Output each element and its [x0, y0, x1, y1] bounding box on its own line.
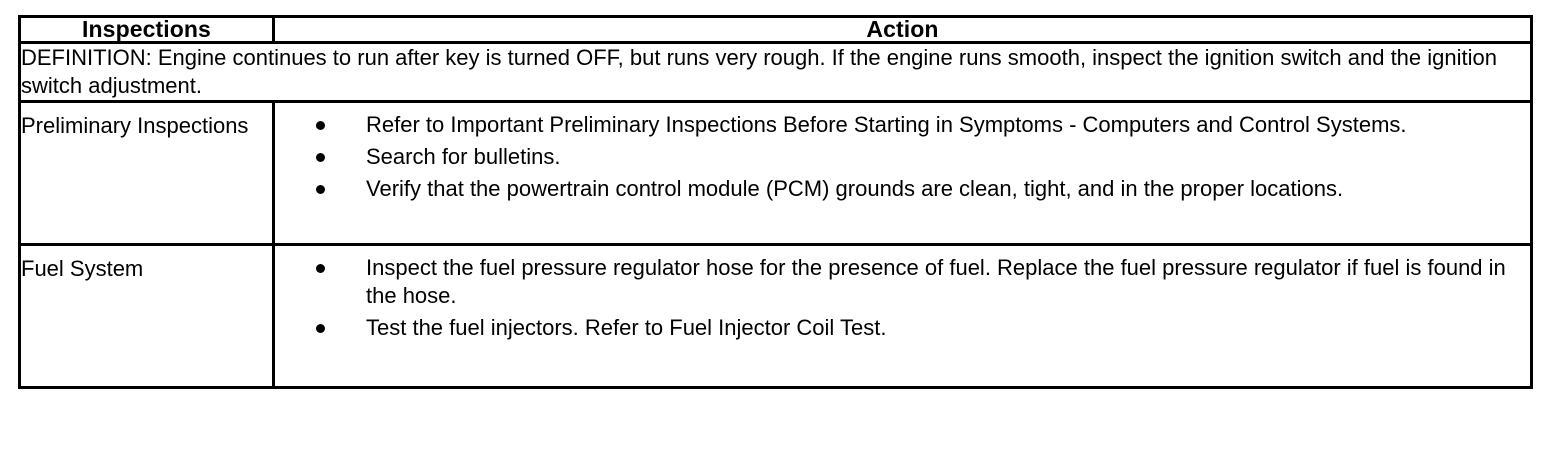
bullet-icon [316, 264, 325, 273]
list-item-text: Inspect the fuel pressure regulator hose… [366, 254, 1530, 310]
list-item: Inspect the fuel pressure regulator hose… [275, 254, 1530, 310]
table-row: Preliminary Inspections Refer to Importa… [20, 102, 1532, 245]
list-item-text: Test the fuel injectors. Refer to Fuel I… [366, 314, 1530, 342]
list-item-text: Refer to Important Preliminary Inspectio… [366, 111, 1530, 139]
column-header-action: Action [274, 17, 1532, 43]
action-cell-fuel-system: Inspect the fuel pressure regulator hose… [274, 245, 1532, 388]
action-bullet-list: Inspect the fuel pressure regulator hose… [275, 254, 1530, 342]
category-label: Fuel System [21, 255, 272, 283]
bullet-icon [316, 153, 325, 162]
table-row: Fuel System Inspect the fuel pressure re… [20, 245, 1532, 388]
diagnostic-inspection-table: Inspections Action DEFINITION: Engine co… [18, 15, 1533, 389]
list-item: Verify that the powertrain control modul… [275, 175, 1530, 203]
list-item: Test the fuel injectors. Refer to Fuel I… [275, 314, 1530, 342]
page-root: Inspections Action DEFINITION: Engine co… [0, 0, 1568, 468]
definition-row: DEFINITION: Engine continues to run afte… [20, 43, 1532, 102]
action-cell-preliminary-inspections: Refer to Important Preliminary Inspectio… [274, 102, 1532, 245]
list-item-text: Search for bulletins. [366, 143, 1530, 171]
category-cell-fuel-system: Fuel System [20, 245, 274, 388]
category-label: Preliminary Inspections [21, 112, 272, 140]
column-header-inspections: Inspections [20, 17, 274, 43]
bullet-icon [316, 121, 325, 130]
table-header-row: Inspections Action [20, 17, 1532, 43]
definition-cell: DEFINITION: Engine continues to run afte… [20, 43, 1532, 102]
bullet-icon [316, 185, 325, 194]
bullet-icon [316, 324, 325, 333]
definition-text: DEFINITION: Engine continues to run afte… [21, 44, 1530, 100]
action-bullet-list: Refer to Important Preliminary Inspectio… [275, 111, 1530, 203]
list-item: Refer to Important Preliminary Inspectio… [275, 111, 1530, 139]
list-item-text: Verify that the powertrain control modul… [366, 175, 1530, 203]
category-cell-preliminary-inspections: Preliminary Inspections [20, 102, 274, 245]
list-item: Search for bulletins. [275, 143, 1530, 171]
